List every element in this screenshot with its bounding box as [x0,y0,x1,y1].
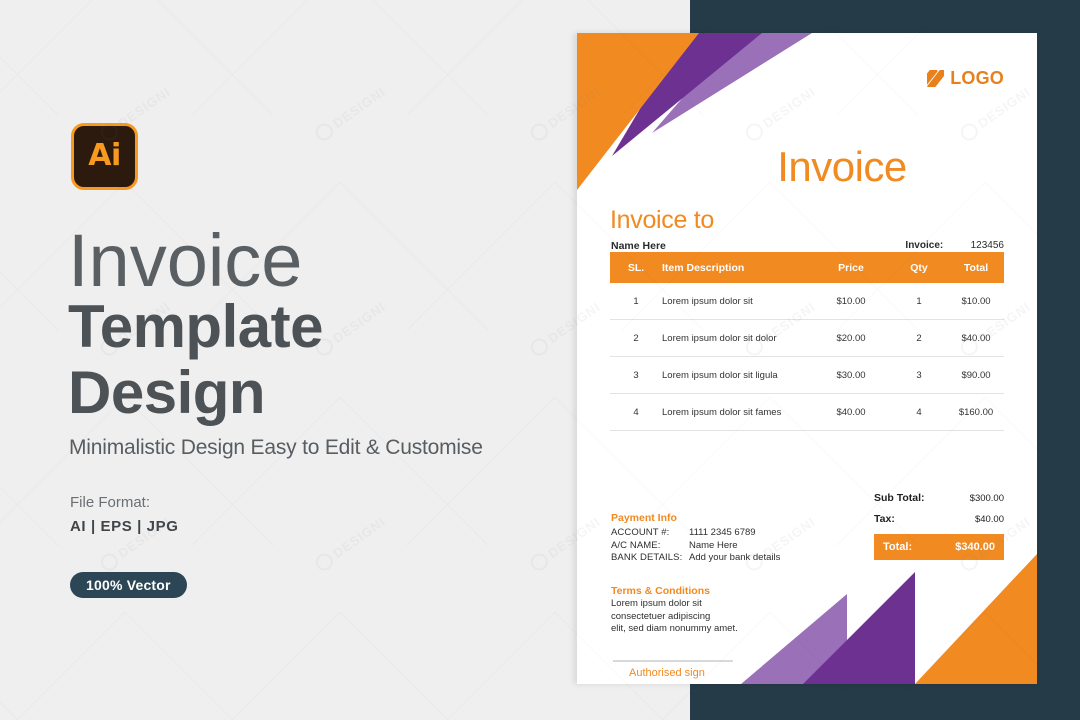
cell-total: $160.00 [948,407,1004,418]
vector-badge: 100% Vector [70,572,187,598]
logo-text: LOGO [950,69,1004,87]
cell-desc: Lorem ipsum dolor sit [662,296,812,307]
terms-line-1: Lorem ipsum dolor sit [611,598,738,611]
invoice-number-value: 123456 [946,239,1004,253]
ai-badge-label: Ai [88,141,121,171]
totals-block: Sub Total: $300.00 Tax: $40.00 Total: $3… [874,492,1004,560]
cell-qty: 2 [890,333,948,344]
tax-label: Tax: [874,513,895,525]
cell-sl: 2 [610,333,662,344]
subtotal-label: Sub Total: [874,492,925,504]
invoice-number-label: Invoice: [905,240,943,251]
brand-logo: LOGO [927,69,1004,87]
tax-value: $40.00 [975,514,1004,525]
cell-sl: 4 [610,407,662,418]
payment-bank-label: BANK DETAILS: [611,552,689,565]
cell-total: $10.00 [948,296,1004,307]
payment-info-details: ACCOUNT #: 1111 2345 6789 A/C NAME: Name… [611,527,780,565]
cell-price: $30.00 [812,370,890,381]
invoice-heading: Invoice [577,143,1037,191]
tagline: Minimalistic Design Easy to Edit & Custo… [69,436,483,460]
terms-heading: Terms & Conditions [611,585,710,597]
column-header-price: Price [812,262,890,274]
payment-account-row: ACCOUNT #: 1111 2345 6789 [611,527,780,540]
subtotal-row: Sub Total: $300.00 [874,492,1004,504]
cell-total: $90.00 [948,370,1004,381]
cell-sl: 1 [610,296,662,307]
cell-desc: Lorem ipsum dolor sit ligula [662,370,812,381]
table-row: 3 Lorem ipsum dolor sit ligula $30.00 3 … [610,357,1004,394]
line-items-table: SL. Item Description Price Qty Total 1 L… [610,252,1004,431]
column-header-sl: SL. [610,262,662,274]
table-header-row: SL. Item Description Price Qty Total [610,252,1004,283]
cell-sl: 3 [610,370,662,381]
invoice-number-row: Invoice: 123456 [905,239,1004,253]
cell-price: $10.00 [812,296,890,307]
page-title-line2: Template [68,297,323,357]
payment-bank-row: BANK DETAILS: Add your bank details [611,552,780,565]
file-format-value: AI | EPS | JPG [70,518,179,535]
terms-line-3: elit, sed diam nonummy amet. [611,623,738,636]
signature-line [613,660,733,662]
terms-line-2: consectetuer adipiscing [611,611,738,624]
signature-label: Authorised sign [629,667,705,679]
tax-row: Tax: $40.00 [874,513,1004,525]
cell-qty: 1 [890,296,948,307]
payment-acname-value: Name Here [689,540,738,553]
column-header-qty: Qty [890,262,948,274]
grand-total-label: Total: [883,541,912,553]
payment-acname-label: A/C NAME: [611,540,689,553]
table-row: 1 Lorem ipsum dolor sit $10.00 1 $10.00 [610,283,1004,320]
adobe-illustrator-icon: Ai [71,123,138,190]
subtotal-value: $300.00 [970,493,1004,504]
cell-price: $40.00 [812,407,890,418]
payment-bank-value: Add your bank details [689,552,780,565]
invoice-to-heading: Invoice to [610,206,714,235]
column-header-desc: Item Description [662,262,812,274]
payment-account-value: 1111 2345 6789 [689,527,756,540]
poster-canvas: Ai Invoice Template Design Minimalistic … [0,0,1080,720]
page-title-line3: Design [68,363,265,423]
payment-account-label: ACCOUNT #: [611,527,689,540]
cell-price: $20.00 [812,333,890,344]
file-format-label: File Format: [70,494,150,511]
page-title-line1: Invoice [68,224,302,298]
invoice-card: LOGO Invoice Invoice to Name Here 123 St… [577,33,1037,684]
column-header-total: Total [948,262,1004,274]
terms-body: Lorem ipsum dolor sit consectetuer adipi… [611,598,738,636]
cell-total: $40.00 [948,333,1004,344]
table-row: 2 Lorem ipsum dolor sit dolor $20.00 2 $… [610,320,1004,357]
table-row: 4 Lorem ipsum dolor sit fames $40.00 4 $… [610,394,1004,431]
cell-qty: 4 [890,407,948,418]
cell-desc: Lorem ipsum dolor sit dolor [662,333,812,344]
payment-acname-row: A/C NAME: Name Here [611,540,780,553]
deco-bottom-orange-triangle [915,554,1037,684]
bill-to-name: Name Here [611,240,666,252]
cell-desc: Lorem ipsum dolor sit fames [662,407,812,418]
cell-qty: 3 [890,370,948,381]
payment-info-heading: Payment Info [611,512,677,524]
grand-total-value: $340.00 [955,541,995,553]
slash-mark-icon [927,70,944,87]
grand-total-row: Total: $340.00 [874,534,1004,560]
